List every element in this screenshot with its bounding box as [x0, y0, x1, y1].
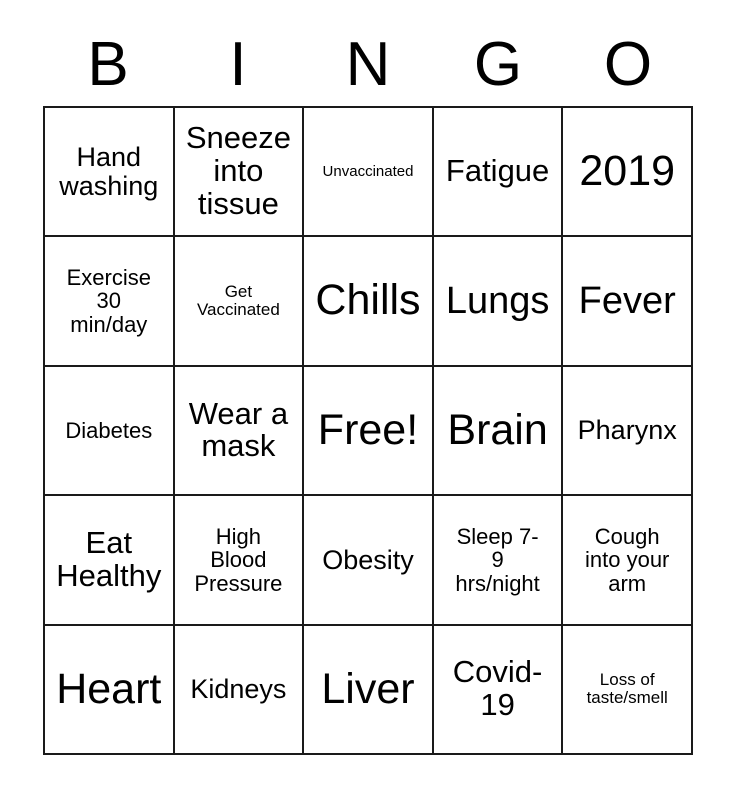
bingo-cell-label: Get Vaccinated: [178, 283, 300, 319]
bingo-cell-label: Fatigue: [437, 155, 559, 188]
bingo-cell-i1[interactable]: Sneeze into tissue: [175, 108, 305, 237]
header-letter-o: O: [563, 34, 693, 96]
bingo-cell-label: Loss of taste/smell: [566, 671, 688, 707]
bingo-cell-g4[interactable]: Sleep 7- 9 hrs/night: [434, 496, 564, 625]
header-letter-i: I: [173, 34, 303, 96]
bingo-cell-label: Unvaccinated: [307, 164, 429, 180]
bingo-cell-g5[interactable]: Covid- 19: [434, 626, 564, 755]
header-letter-b: B: [43, 34, 173, 96]
bingo-cell-label: Eat Healthy: [48, 527, 170, 593]
bingo-cell-free[interactable]: Free!: [304, 367, 434, 496]
bingo-cell-o1[interactable]: 2019: [563, 108, 693, 237]
bingo-cell-label: Covid- 19: [437, 656, 559, 722]
bingo-cell-label: Pharynx: [566, 416, 688, 445]
bingo-cell-i3[interactable]: Wear a mask: [175, 367, 305, 496]
bingo-cell-g2[interactable]: Lungs: [434, 237, 564, 366]
bingo-cell-n1[interactable]: Unvaccinated: [304, 108, 434, 237]
bingo-cell-g3[interactable]: Brain: [434, 367, 564, 496]
bingo-cell-label: Kidneys: [178, 675, 300, 704]
bingo-cell-label: Heart: [48, 667, 170, 713]
bingo-cell-label: Lungs: [437, 281, 559, 321]
bingo-cell-label: Wear a mask: [178, 398, 300, 464]
bingo-cell-label: Chills: [307, 278, 429, 324]
bingo-cell-label: High Blood Pressure: [178, 525, 300, 595]
bingo-cell-n2[interactable]: Chills: [304, 237, 434, 366]
bingo-cell-n5[interactable]: Liver: [304, 626, 434, 755]
bingo-cell-i5[interactable]: Kidneys: [175, 626, 305, 755]
bingo-cell-label: Diabetes: [48, 419, 170, 442]
bingo-cell-b1[interactable]: Hand washing: [45, 108, 175, 237]
bingo-cell-label: Exercise 30 min/day: [48, 266, 170, 336]
bingo-header: B I N G O: [43, 24, 693, 106]
header-letter-g: G: [433, 34, 563, 96]
bingo-cell-o2[interactable]: Fever: [563, 237, 693, 366]
bingo-cell-label: Brain: [437, 408, 559, 454]
bingo-cell-label: Liver: [307, 667, 429, 713]
bingo-grid: Hand washing Sneeze into tissue Unvaccin…: [43, 106, 693, 755]
bingo-cell-i2[interactable]: Get Vaccinated: [175, 237, 305, 366]
bingo-cell-label: Sleep 7- 9 hrs/night: [437, 525, 559, 595]
bingo-cell-label: Sneeze into tissue: [178, 122, 300, 221]
bingo-cell-o4[interactable]: Cough into your arm: [563, 496, 693, 625]
bingo-cell-label: Free!: [307, 408, 429, 454]
bingo-cell-o5[interactable]: Loss of taste/smell: [563, 626, 693, 755]
bingo-cell-label: Obesity: [307, 546, 429, 575]
bingo-cell-label: Hand washing: [48, 143, 170, 200]
bingo-card: B I N G O Hand washing Sneeze into tissu…: [0, 0, 736, 800]
bingo-cell-label: Cough into your arm: [566, 525, 688, 595]
header-letter-n: N: [303, 34, 433, 96]
bingo-cell-g1[interactable]: Fatigue: [434, 108, 564, 237]
bingo-cell-b2[interactable]: Exercise 30 min/day: [45, 237, 175, 366]
bingo-cell-label: Fever: [566, 281, 688, 321]
bingo-cell-b3[interactable]: Diabetes: [45, 367, 175, 496]
bingo-cell-o3[interactable]: Pharynx: [563, 367, 693, 496]
bingo-cell-label: 2019: [566, 149, 688, 195]
bingo-cell-b4[interactable]: Eat Healthy: [45, 496, 175, 625]
bingo-cell-n4[interactable]: Obesity: [304, 496, 434, 625]
bingo-cell-i4[interactable]: High Blood Pressure: [175, 496, 305, 625]
bingo-cell-b5[interactable]: Heart: [45, 626, 175, 755]
